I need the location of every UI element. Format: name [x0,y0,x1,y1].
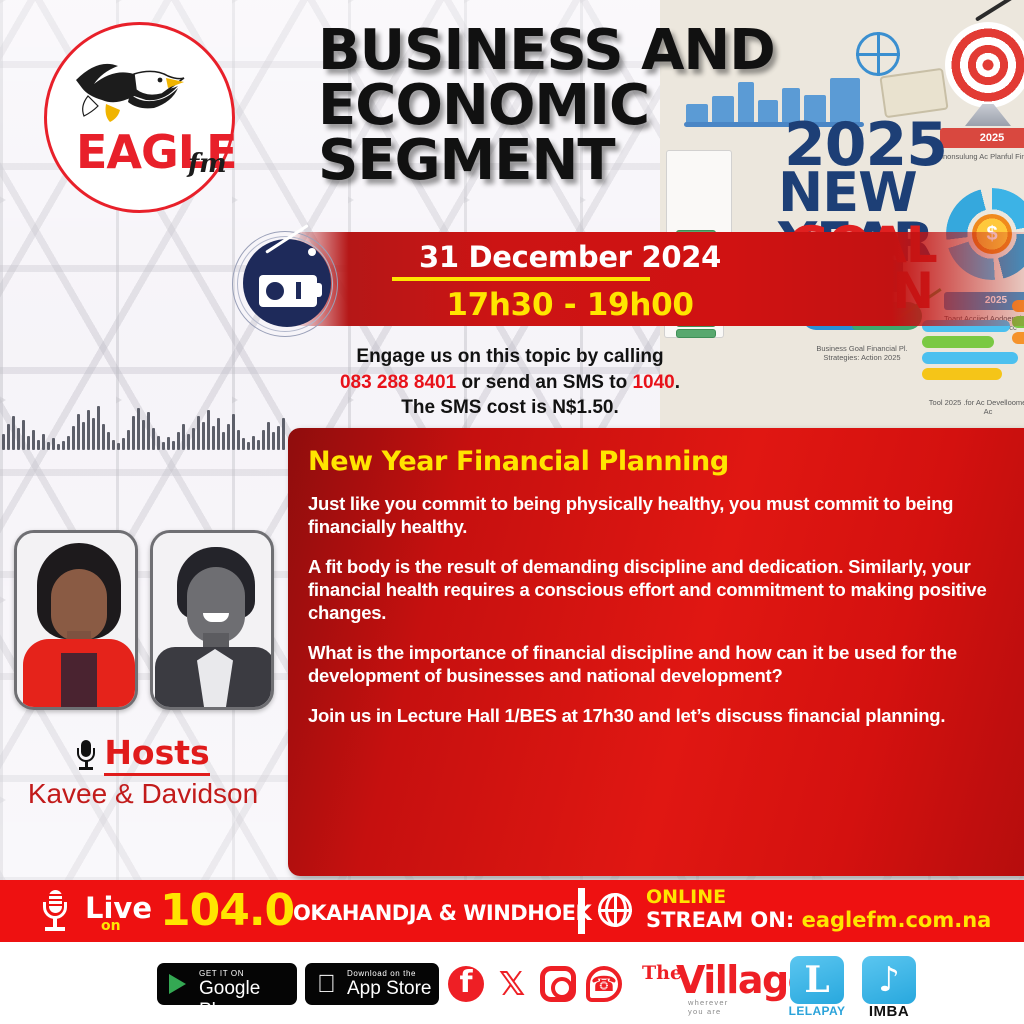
hosts-label: Hosts [104,733,209,776]
engage-line-1: Engage us on this topic by calling [300,344,720,370]
globe-icon [598,893,632,927]
app-store-small: Download on the [347,969,416,978]
engage-text: Engage us on this topic by calling 083 2… [300,344,720,421]
online-label: ONLINE [646,886,726,908]
collage-caption-3: Business Goal Financial Pl. Strategies: … [802,344,922,363]
lelapay-label: LELAPAY [778,1004,856,1018]
google-play-badge[interactable]: GET IT ON Google Play [157,963,297,1005]
google-play-icon [169,974,186,994]
topic-panel: New Year Financial Planning Just like yo… [288,428,1024,876]
microphone-icon [76,740,96,770]
lelapay-logo[interactable]: L [790,956,844,1004]
schedule-date-underline [392,277,650,281]
schedule-date: 31 December 2024 [360,240,780,274]
stream-label: STREAM ON: [646,908,794,932]
page-title: BUSINESS AND ECONOMIC SEGMENT [318,24,918,189]
app-store-badge[interactable]:  Download on the App Store [305,963,439,1005]
google-play-main: Google Play [199,978,297,1005]
host-photo-kavee [14,530,138,710]
topic-paragraph-1: Just like you commit to being physically… [308,493,998,539]
cities-label: OKAHANDJA & WINDHOEK [293,901,591,925]
topic-paragraph-4: Join us in Lecture Hall 1/BES at 17h30 a… [308,705,998,728]
title-line-1: BUSINESS AND [318,24,918,79]
phone-number: 083 288 8401 [340,372,456,393]
target-stand [965,104,1011,126]
host-photos [14,530,276,712]
app-store-main: App Store [347,978,432,1000]
topic-paragraph-2: A fit body is the result of demanding di… [308,556,998,625]
hosts-label-row: Hosts [0,733,286,776]
imba-label: IMBA [850,1003,928,1020]
stream-url[interactable]: eaglefm.com.na [802,908,992,932]
station-logo: EAGLE fm [42,20,237,215]
google-play-small: GET IT ON [199,969,244,978]
whatsapp-icon[interactable]: ☎ [586,966,622,1002]
instagram-icon[interactable] [540,966,576,1002]
collage-caption-4: Tool 2025 .for Ac Devellooment and Ac [928,398,1024,417]
host-photo-davidson [150,530,274,710]
target-icon [945,22,1024,108]
poster-root: 2025 Cononsulung Ac Planful Finansal S $… [0,0,1024,1024]
on-label: on [101,918,121,934]
arrow-icon [975,0,1024,22]
engage-line-2-end: . [675,372,680,393]
sms-number: 1040 [632,372,674,393]
title-line-3: SEGMENT [318,134,918,189]
villager-tagline: wherever you are [688,998,728,1016]
apple-icon:  [317,972,338,997]
collage-badge-year: 2025 [940,128,1024,148]
engage-line-2-mid: or send an SMS to [456,372,632,393]
topic-paragraph-3: What is the importance of financial disc… [308,642,998,688]
horizontal-bar-chart-icon [922,320,1024,390]
x-twitter-icon[interactable]: 𝕏 [494,966,530,1002]
stream-row: STREAM ON: eaglefm.com.na [646,908,991,932]
title-line-2: ECONOMIC [318,79,918,134]
audio-waveform [0,398,290,450]
imba-logo[interactable]: ♪ [862,956,916,1004]
radio-icon [232,231,338,337]
svg-text:fm: fm [186,149,227,179]
frequency-value: 104.0 [160,885,294,936]
engage-line-2: 083 288 8401 or send an SMS to 1040. [300,370,720,396]
engage-line-3: The SMS cost is N$1.50. [300,395,720,421]
microphone-icon [42,890,68,932]
topic-heading: New Year Financial Planning [308,446,998,477]
bar-divider [578,888,585,934]
facebook-icon[interactable]: f [448,966,484,1002]
hosts-names: Kavee & Davidson [0,778,286,810]
schedule-time: 17h30 - 19h00 [360,287,780,323]
